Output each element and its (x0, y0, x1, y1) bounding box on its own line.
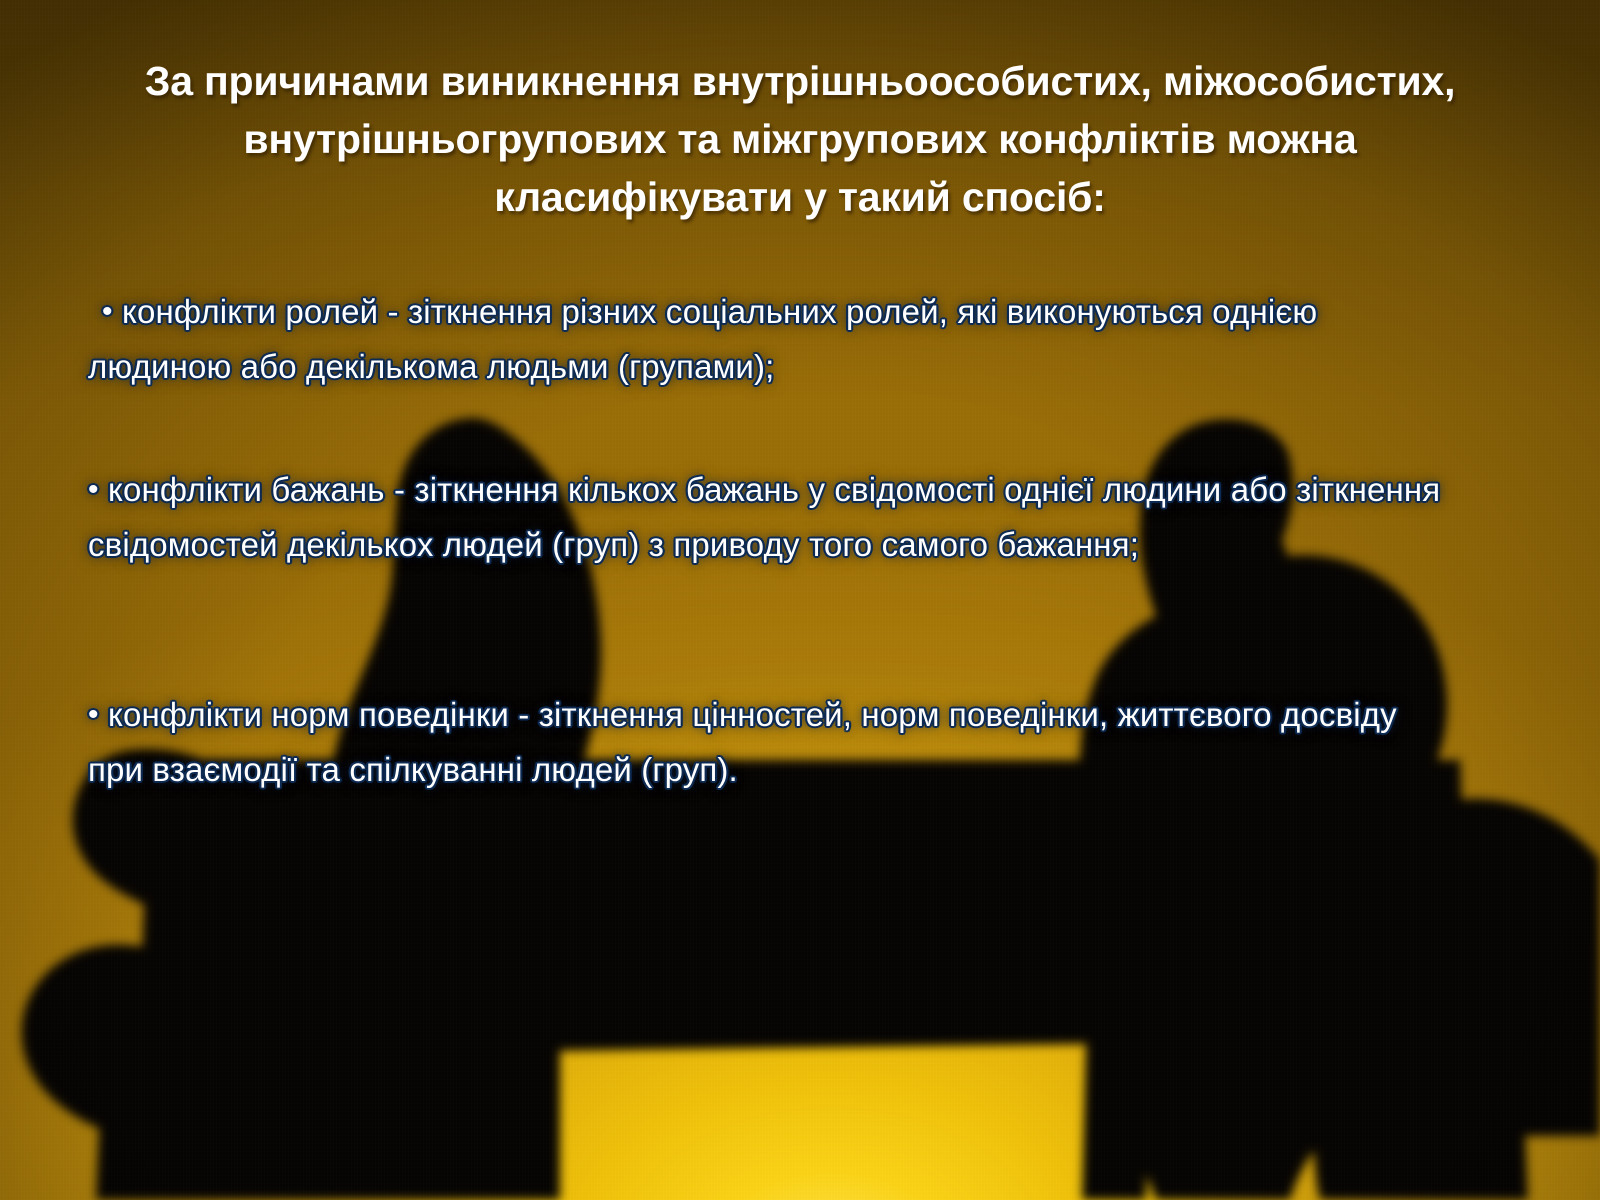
bullet-item-role-conflicts: • конфлікти ролей - зіткнення різних соц… (88, 285, 1460, 395)
bullet-text-desire-conflicts: конфлікти бажань - зіткнення кількох баж… (88, 471, 1440, 563)
bullet-dot-icon: • (88, 698, 99, 731)
bullet-text-behaviour-norm-conflicts: конфлікти норм поведінки - зіткнення цін… (88, 696, 1397, 788)
slide-title: За причинами виникнення внутрішньоособис… (120, 52, 1480, 227)
bullet-text-role-conflicts: конфлікти ролей - зіткнення різних соціа… (88, 293, 1317, 385)
bullet-dot-icon: • (102, 295, 113, 328)
presentation-slide: За причинами виникнення внутрішньоособис… (0, 0, 1600, 1200)
bullet-dot-icon: • (88, 473, 99, 506)
bullet-item-behaviour-norm-conflicts: • конфлікти норм поведінки - зіткнення ц… (88, 688, 1460, 798)
bullet-item-desire-conflicts: • конфлікти бажань - зіткнення кількох б… (88, 463, 1460, 573)
